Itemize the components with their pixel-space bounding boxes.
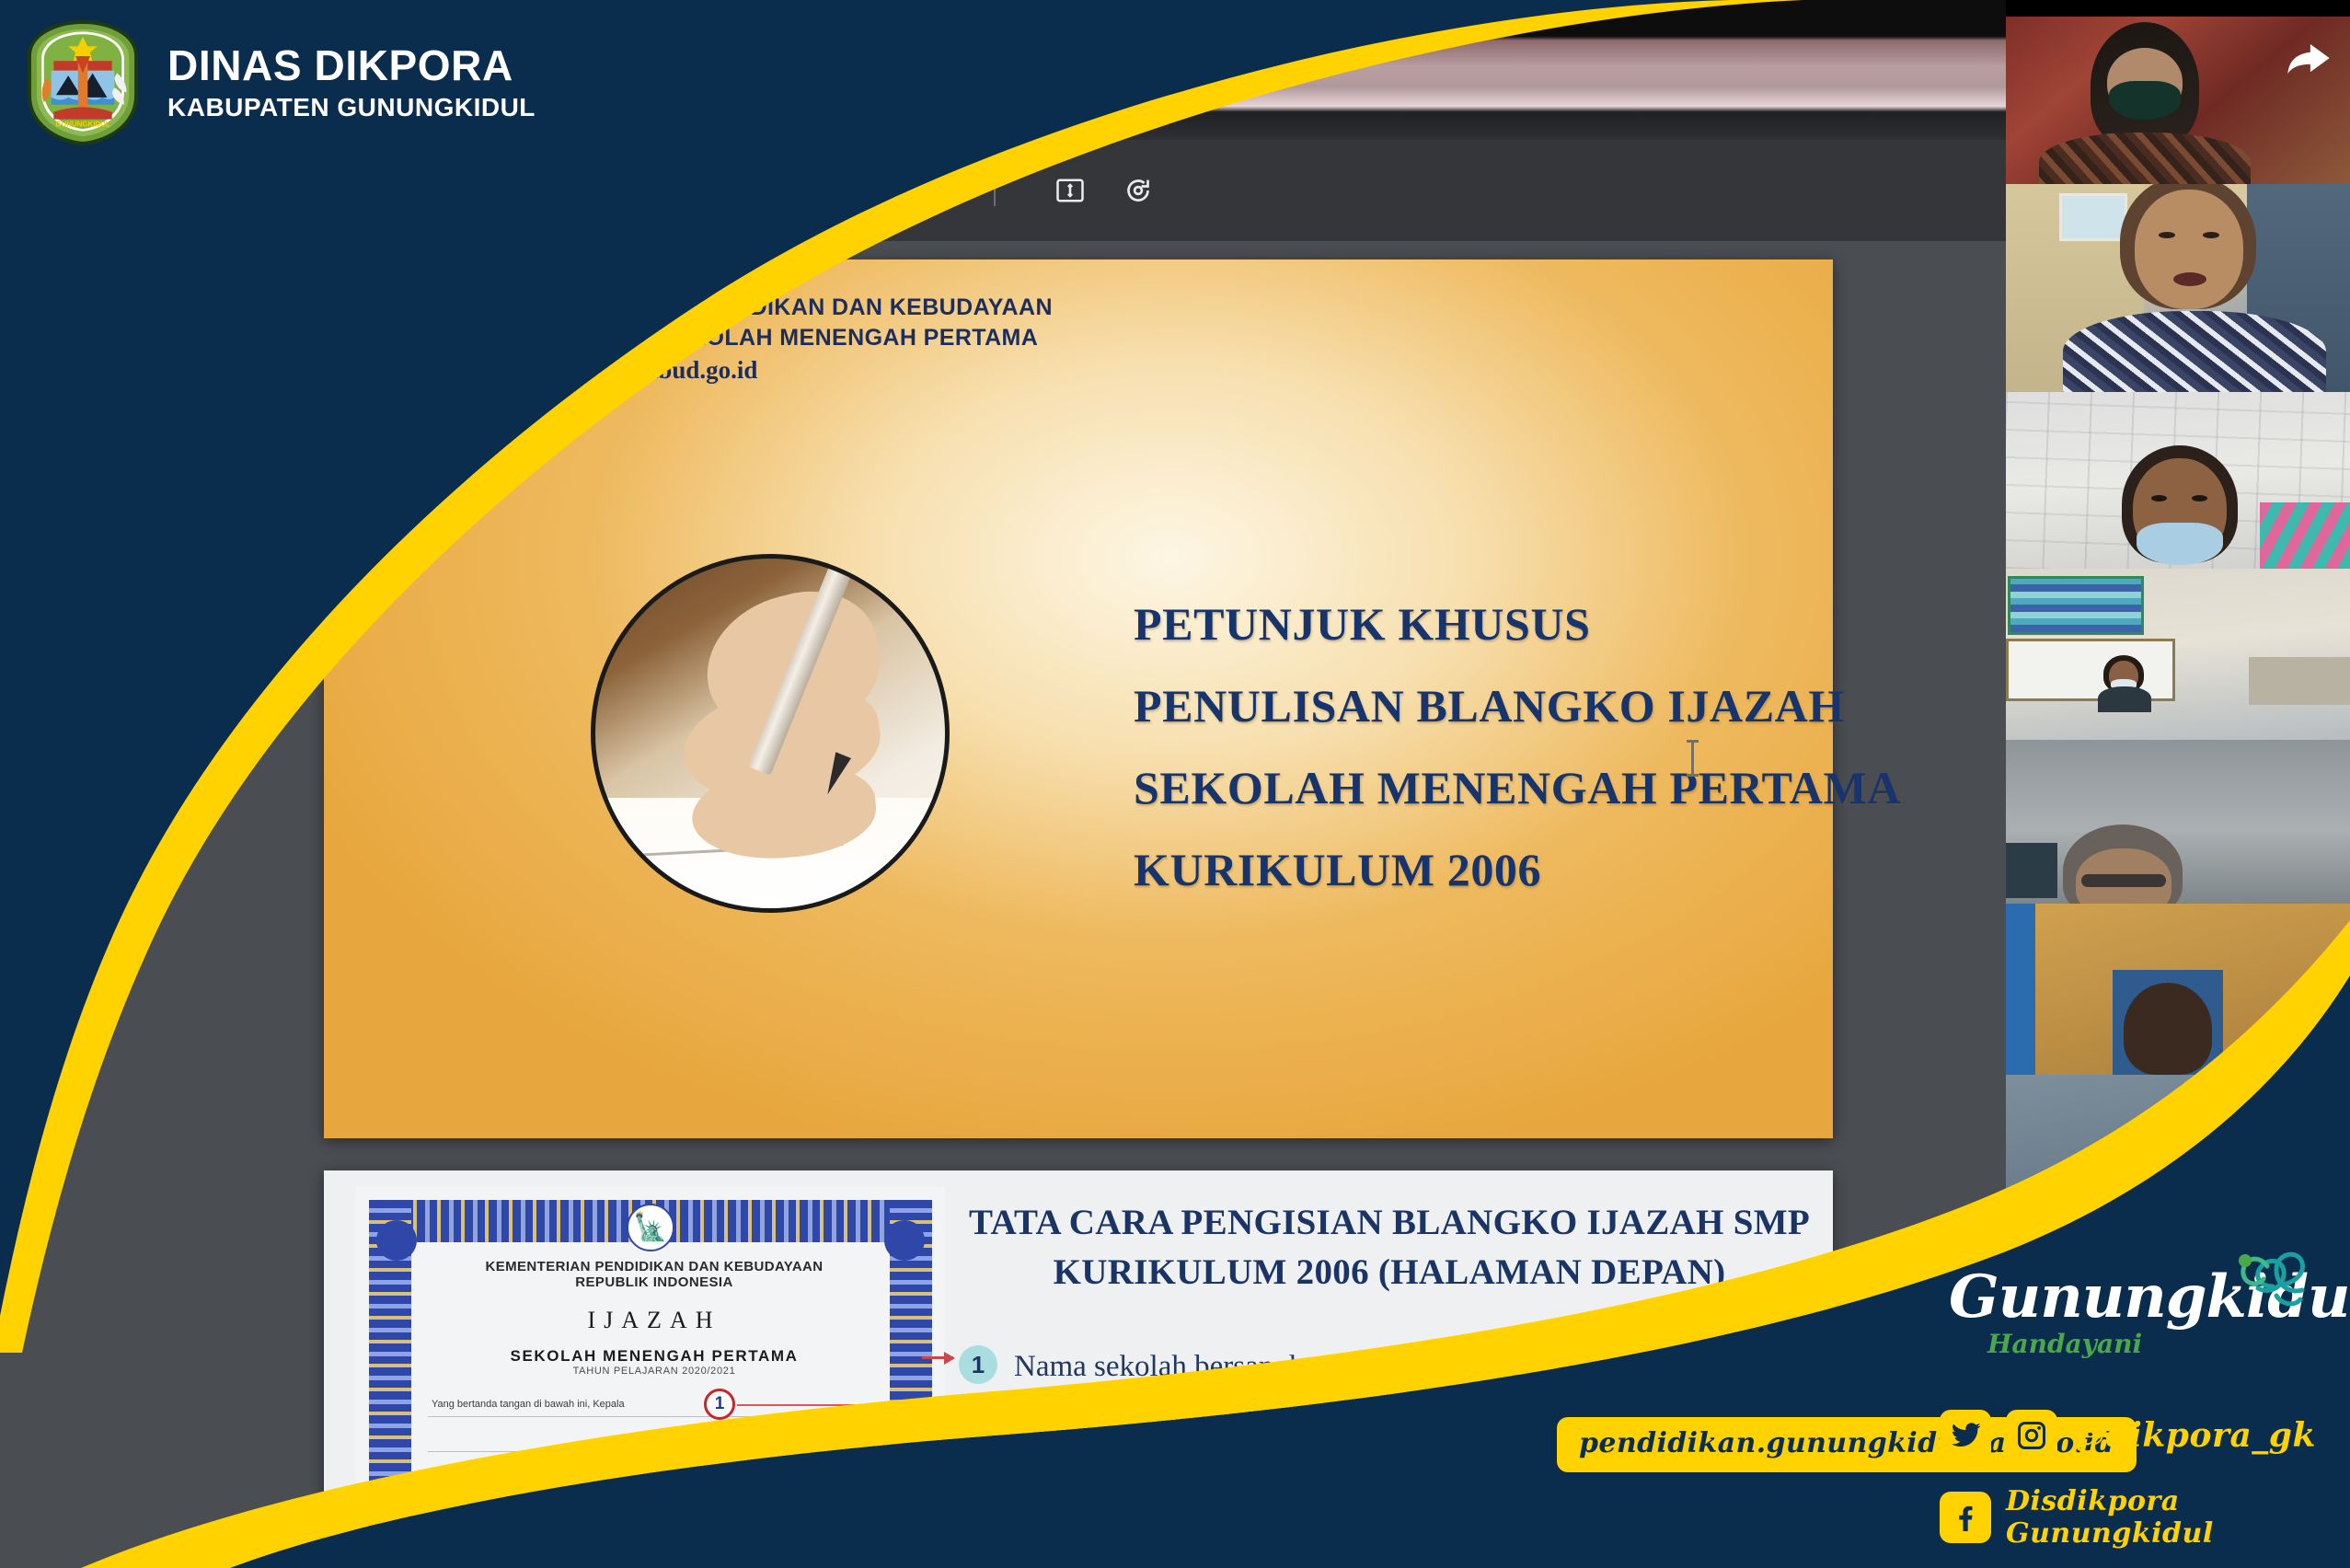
tatacara-title-line-1: TATA CARA PENGISIAN BLANGKO IJAZAH SMP: [968, 1198, 1811, 1248]
facebook-page-name: Disdikpora Gunungkidul: [2006, 1485, 2326, 1550]
share-arrow-icon[interactable]: [2287, 44, 2330, 75]
ijazah-leader-2: [665, 1474, 945, 1476]
gunungkidul-regency-crest: GUNUNGKIDUL: [22, 19, 144, 146]
ijazah-line-5: TAHUN PELAJARAN 2020/2021: [428, 1366, 881, 1377]
tatacara-bullet-2: 2: [959, 1465, 997, 1504]
participant-2-mouth: [2173, 272, 2206, 286]
ijazah-line-2: REPUBLIK INDONESIA: [428, 1274, 881, 1290]
tatacara-arrow-2: [922, 1476, 953, 1479]
pdf-page-number-input[interactable]: 12: [618, 172, 666, 210]
participant-6-head: [2124, 983, 2212, 1075]
participant-tile-6[interactable]: [2006, 904, 2350, 1075]
participant-video-strip: [2006, 0, 2350, 1233]
tatacara-bullet-1: 1: [959, 1345, 997, 1384]
participant-5-window: [2006, 843, 2057, 898]
ijazah-inner-content: KEMENTERIAN PENDIDIKAN DAN KEBUDAYAAN RE…: [428, 1259, 881, 1568]
tatacara-arrow-1: [922, 1356, 953, 1359]
ministry-header: TUT WURI HANDAYANI KEMENTERIAN PENDIDIKA…: [361, 283, 1053, 401]
hand-writing-photo: [591, 554, 950, 913]
participant-4-whiteboard: [2006, 639, 2175, 701]
ijazah-marker-3: 3: [538, 1493, 570, 1525]
participant-3-fabric: [2260, 502, 2350, 569]
social-row-twitter-instagram: @dikpora_gk: [1940, 1410, 2326, 1461]
ijazah-field-blank: [428, 1432, 881, 1452]
participant-tile-4[interactable]: [2006, 569, 2350, 740]
participant-4-wall-chart: [2008, 576, 2144, 635]
participant-1-mask: [2109, 81, 2181, 120]
participant-5-glasses: [2081, 874, 2166, 887]
ministry-text-block: KEMENTERIAN PENDIDIKAN DAN KEBUDAYAAN DI…: [499, 283, 1053, 388]
header-text-block: DINAS DIKPORA KABUPATEN GUNUNGKIDUL: [167, 43, 536, 123]
ijazah-leader-4: [516, 1544, 945, 1546]
tatacara-arrow-3: [922, 1559, 953, 1562]
ijazah-line-3: IJAZAH: [428, 1307, 881, 1334]
svg-text:GUNUNGKIDUL: GUNUNGKIDUL: [55, 121, 109, 129]
participant-4-box: [2249, 657, 2350, 705]
ijazah-field-3-label: Kabupaten/Kota: [432, 1504, 504, 1515]
participant-tile-2[interactable]: [2006, 184, 2350, 392]
fit-page-icon[interactable]: [1047, 167, 1093, 213]
slide-title-line-1: PETUNJUK KHUSUS: [1134, 583, 1901, 665]
tatacara-item-3: 3 Nama nomenklatur kabupaten/kota*) (cor…: [959, 1548, 1679, 1568]
screenshot-root: 12 / 55 − 100% +: [0, 0, 2350, 1568]
header-branding: GUNUNGKIDUL DINAS DIKPORA KABUPATEN GUNU…: [0, 0, 662, 166]
participant-7-stand-right: [2054, 1198, 2078, 1233]
participant-4-body: [2098, 686, 2151, 712]
participant-3-eye-right: [2192, 495, 2207, 502]
ijazah-field-1: Yang bertanda tangan di bawah ini, Kepal…: [428, 1397, 881, 1417]
page-title: DINAS DIKPORA: [167, 43, 536, 89]
tatacara-bullet-3: 3: [959, 1548, 997, 1568]
participant-7-stand-bar: [2021, 1206, 2078, 1215]
tatacara-item-2: 2 Nomor Pokok Sekolah Nasional (NPSN): [959, 1465, 1512, 1508]
ijazah-field-4: Provinsi 4: [428, 1537, 881, 1557]
ijazah-line-1: KEMENTERIAN PENDIDIKAN DAN KEBUDAYAAN: [428, 1259, 881, 1274]
toolbar-divider-2: [994, 175, 996, 206]
participant-2-batik-shirt: [2063, 311, 2326, 392]
participant-3-mask: [2137, 523, 2223, 565]
ministry-line-2: DIREKTORAT SEKOLAH MENENGAH PERTAMA: [499, 323, 1053, 353]
ijazah-field-2: Nomor Pokok Sekolah Nasional : 2: [428, 1467, 881, 1487]
twitter-icon[interactable]: [1940, 1410, 1991, 1461]
gunungkidul-tagline: Handayani: [1940, 1329, 2326, 1359]
ijazah-field-3: Kabupaten/Kota 3: [428, 1502, 881, 1522]
ijazah-marker-1: 1: [704, 1389, 735, 1420]
participant-1-body: [2039, 133, 2251, 184]
participant-tile-1[interactable]: [2006, 17, 2350, 184]
zoom-in-button[interactable]: +: [918, 175, 964, 206]
slide-title-line-3: SEKOLAH MENENGAH PERTAMA: [1134, 747, 1901, 829]
participant-7-stand-left: [2021, 1198, 2045, 1233]
tatacara-text-2: Nomor Pokok Sekolah Nasional (NPSN): [1014, 1465, 1512, 1508]
ijazah-field-4-label: Provinsi: [432, 1539, 467, 1550]
ijazah-field-1-rule: [428, 1416, 881, 1417]
ijazah-blank-rule: [428, 1451, 881, 1452]
pdf-page-12: TUT WURI HANDAYANI KEMENTERIAN PENDIDIKA…: [324, 259, 1833, 1138]
social-handle: @dikpora_gk: [2072, 1416, 2316, 1455]
rotate-clockwise-icon[interactable]: [1115, 167, 1161, 213]
pdf-page-total: / 55: [676, 177, 718, 205]
tatacara-text-3: Nama nomenklatur kabupaten/kota*) (coret…: [1014, 1548, 1679, 1568]
facebook-icon[interactable]: [1940, 1492, 1991, 1543]
slide-title-line-2: PENULISAN BLANGKO IJAZAH: [1134, 665, 1901, 747]
text-ibeam-cursor: [1691, 740, 1694, 777]
ijazah-field-1-label: Yang bertanda tangan di bawah ini, Kepal…: [432, 1399, 625, 1410]
participant-tile-5[interactable]: [2006, 740, 2350, 904]
zoom-level-display[interactable]: 100%: [830, 172, 913, 210]
participant-2-window: [2059, 193, 2127, 241]
participant-3-eye-left: [2151, 495, 2167, 502]
participant-2-eye-left: [2159, 232, 2175, 238]
instagram-icon[interactable]: [2006, 1410, 2057, 1461]
svg-text:TUT WURI HANDAYANI: TUT WURI HANDAYANI: [372, 298, 467, 308]
pdf-scroll-area[interactable]: TUT WURI HANDAYANI KEMENTERIAN PENDIDIKA…: [0, 241, 2006, 1568]
ijazah-leader-3: [571, 1509, 945, 1511]
ijazah-line-4: SEKOLAH MENENGAH PERTAMA: [428, 1347, 881, 1366]
ijazah-marker-2: 2: [632, 1458, 663, 1490]
participant-6-blue-panel: [2006, 904, 2035, 1075]
shared-screen-region: 12 / 55 − 100% +: [0, 0, 2006, 1568]
participant-2-eye-right: [2203, 232, 2219, 238]
ijazah-field-3-rule: [428, 1521, 881, 1522]
ijazah-corner-dot-left: [376, 1220, 417, 1261]
social-row-facebook: Disdikpora Gunungkidul: [1940, 1485, 2326, 1550]
gunungkidul-branding-block: Gunungkidul Handayani @dikpora_gk Disdik…: [1940, 1268, 2326, 1550]
participant-tile-7[interactable]: [2006, 1075, 2350, 1233]
zoom-out-button[interactable]: −: [778, 175, 824, 206]
tatacara-title-line-2: KURIKULUM 2006 (HALAMAN DEPAN): [968, 1248, 1811, 1297]
slide-title-line-4: KURIKULUM 2006: [1134, 829, 1901, 911]
ijazah-marker-4: 4: [483, 1528, 514, 1560]
garuda-emblem-icon: 🗽: [627, 1204, 674, 1251]
toolbar-divider-1: [747, 175, 749, 206]
pdf-page-13: 🗽 KEMENTERIAN PENDIDIKAN DAN KEBUDAYAAN …: [324, 1170, 1833, 1568]
ministry-line-1: KEMENTERIAN PENDIDIKAN DAN KEBUDAYAAN: [499, 293, 1053, 323]
tatacara-title: TATA CARA PENGISIAN BLANGKO IJAZAH SMP K…: [968, 1198, 1811, 1297]
page-subtitle: KABUPATEN GUNUNGKIDUL: [167, 93, 536, 122]
tut-wuri-handayani-logo: TUT WURI HANDAYANI: [361, 283, 478, 401]
ijazah-blank-form-image: 🗽 KEMENTERIAN PENDIDIKAN DAN KEBUDAYAAN …: [356, 1187, 945, 1568]
participant-2-face: [2135, 190, 2243, 309]
ijazah-field-2-label: Nomor Pokok Sekolah Nasional :: [432, 1469, 580, 1480]
participant-tile-3[interactable]: [2006, 392, 2350, 569]
gunungkidul-wordmark: Gunungkidul Handayani: [1940, 1268, 2326, 1386]
slide-title-block: PETUNJUK KHUSUS PENULISAN BLANGKO IJAZAH…: [1134, 583, 1901, 911]
ministry-url: ditsmp.kemdikbud.go.id: [499, 353, 1053, 388]
ijazah-leader-1: [737, 1404, 945, 1406]
ijazah-corner-dot-right: [884, 1220, 925, 1261]
batik-flourish-icon: [2212, 1248, 2313, 1320]
